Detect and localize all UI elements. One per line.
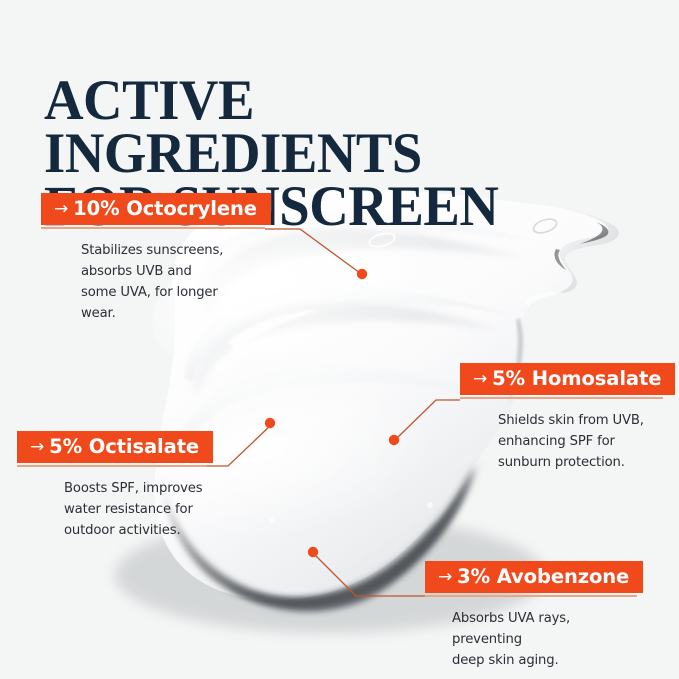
badge-rule-avobenzone (425, 595, 637, 597)
callout-octocrylene: →10% Octocrylene Stabilizes sunscreens, … (41, 193, 265, 324)
arrow-right-icon: → (438, 567, 457, 587)
callout-homosalate: →5% Homosalate Shields skin from UVB, en… (460, 363, 663, 473)
description-homosalate: Shields skin from UVB, enhancing SPF for… (498, 410, 663, 473)
badge-homosalate[interactable]: →5% Homosalate (460, 363, 675, 395)
badge-rule-homosalate (460, 397, 663, 399)
marker-dot-homosalate (389, 435, 399, 445)
arrow-right-icon: → (473, 369, 492, 389)
badge-rule-octocrylene (41, 227, 265, 229)
arrow-right-icon: → (54, 199, 73, 219)
badge-label-avobenzone: 3% Avobenzone (457, 565, 629, 588)
arrow-right-icon: → (30, 437, 49, 457)
description-octocrylene: Stabilizes sunscreens, absorbs UVB and s… (81, 240, 265, 324)
badge-octisalate[interactable]: →5% Octisalate (17, 431, 213, 463)
connector-avobenzone (314, 554, 425, 596)
callout-octisalate: →5% Octisalate Boosts SPF, improves wate… (17, 431, 207, 541)
callout-avobenzone: →3% Avobenzone Absorbs UVA rays, prevent… (425, 561, 637, 671)
description-octisalate: Boosts SPF, improves water resistance fo… (64, 478, 207, 541)
connector-homosalate (396, 400, 460, 439)
marker-dot-octisalate (265, 418, 275, 428)
infographic-page: ACTIVE INGREDIENTS FOR SUNSCREEN →10% Oc… (0, 0, 679, 679)
marker-dot-octocrylene (357, 269, 367, 279)
connector-octisalate (207, 425, 271, 466)
badge-label-octisalate: 5% Octisalate (49, 435, 199, 458)
badge-rule-octisalate (17, 465, 207, 467)
badge-label-octocrylene: 10% Octocrylene (73, 197, 257, 220)
badge-avobenzone[interactable]: →3% Avobenzone (425, 561, 643, 593)
marker-dot-avobenzone (308, 547, 318, 557)
description-avobenzone: Absorbs UVA rays, preventing deep skin a… (452, 608, 637, 671)
badge-octocrylene[interactable]: →10% Octocrylene (41, 193, 271, 225)
badge-label-homosalate: 5% Homosalate (492, 367, 661, 390)
